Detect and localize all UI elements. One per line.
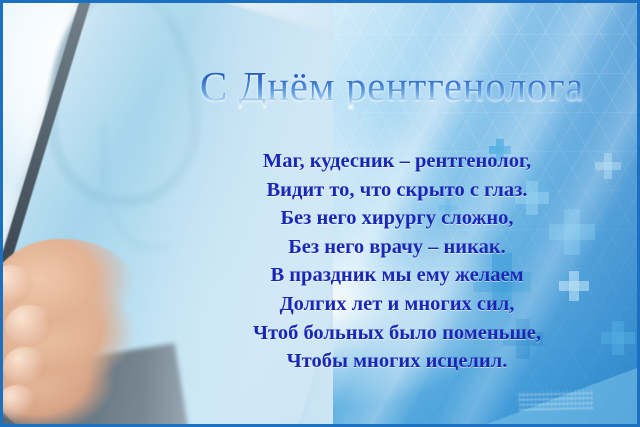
- finger-highlight: [3, 347, 47, 387]
- greeting-card: С Днём рентгенолога Маг, кудесник – рент…: [0, 0, 640, 427]
- verse-line: Без него хирургу сложно,: [171, 204, 623, 233]
- verse-line: Маг, кудесник – рентгенолог,: [171, 147, 623, 176]
- verse-line: Чтоб больных было поменьше,: [171, 319, 623, 348]
- finger-highlight: [3, 265, 33, 305]
- site-watermark: [519, 389, 593, 411]
- verse-line: Долгих лет и многих сил,: [171, 290, 623, 319]
- verse-line: Без него врачу – никак.: [171, 233, 623, 262]
- verse-line: Видит то, что скрыто с глаз.: [171, 176, 623, 205]
- finger-highlight: [5, 305, 53, 347]
- page-title: С Днём рентгенолога: [153, 65, 631, 108]
- verse-line: В праздник мы ему желаем: [171, 261, 623, 290]
- verse-line: Чтобы многих исцелил.: [171, 347, 623, 376]
- finger-highlight: [3, 385, 37, 421]
- verse-block: Маг, кудесник – рентгенолог, Видит то, ч…: [171, 147, 623, 376]
